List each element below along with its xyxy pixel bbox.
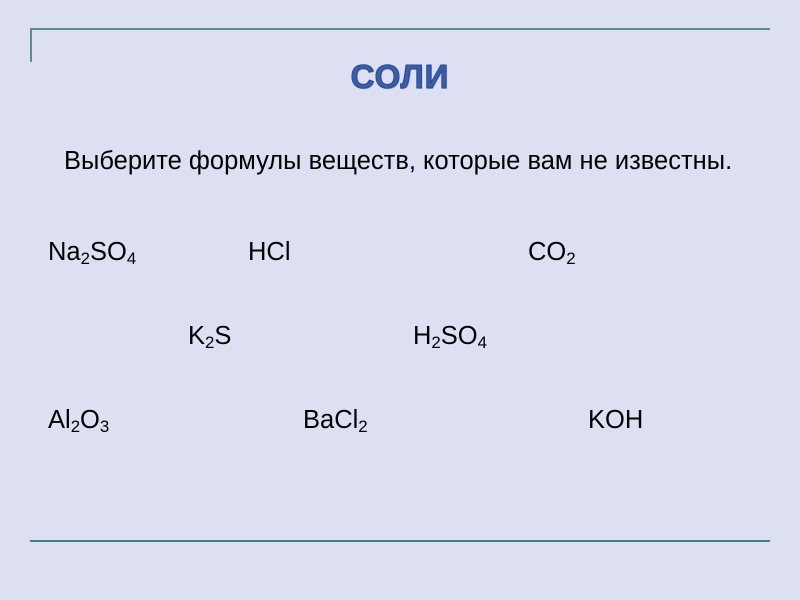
- instruction-text: Выберите формулы веществ, которые вам не…: [48, 145, 748, 179]
- formula-sub-2: 4: [127, 249, 136, 268]
- formula-base: CO: [528, 238, 566, 266]
- formula-item: KOH: [588, 406, 643, 435]
- frame-top-rule: [30, 28, 770, 30]
- formula-base-2: SO: [441, 322, 478, 350]
- formula-sub: 2: [358, 417, 367, 436]
- formula-base: H: [413, 322, 431, 350]
- formula-base: BaCl: [303, 406, 358, 434]
- formula-base: K: [188, 322, 205, 350]
- frame-bottom-rule: [30, 540, 770, 542]
- formula-sub: 2: [81, 249, 90, 268]
- formula-base-2: O: [80, 406, 100, 434]
- frame-left-rule: [30, 28, 32, 62]
- formula-sub: 2: [431, 333, 440, 352]
- formula-base: Al: [48, 406, 71, 434]
- page-title: СОЛИ: [0, 58, 800, 96]
- formula-sub: 2: [71, 417, 80, 436]
- formula-base-2: S: [214, 322, 231, 350]
- formula-sub: 2: [205, 333, 214, 352]
- formula-item: Na2SO4: [48, 238, 136, 267]
- formula-item: CO2: [528, 238, 576, 267]
- formula-row: Al2O3 BaCl2 KOH: [48, 406, 768, 490]
- formula-list: Na2SO4 HCl CO2 K2S H2SO4 Al2O3 BaCl2 KOH: [48, 238, 768, 490]
- formula-base: HCl: [248, 238, 291, 266]
- formula-base: KOH: [588, 406, 643, 434]
- formula-row: K2S H2SO4: [48, 322, 768, 406]
- formula-item: K2S: [188, 322, 231, 351]
- formula-item: Al2O3: [48, 406, 109, 435]
- formula-item: HCl: [248, 238, 291, 267]
- formula-row: Na2SO4 HCl CO2: [48, 238, 768, 322]
- formula-sub-2: 3: [100, 417, 109, 436]
- formula-base: Na: [48, 238, 81, 266]
- formula-sub: 2: [566, 249, 575, 268]
- formula-sub-2: 4: [478, 333, 487, 352]
- formula-base-2: SO: [90, 238, 127, 266]
- formula-item: H2SO4: [413, 322, 487, 351]
- formula-item: BaCl2: [303, 406, 368, 435]
